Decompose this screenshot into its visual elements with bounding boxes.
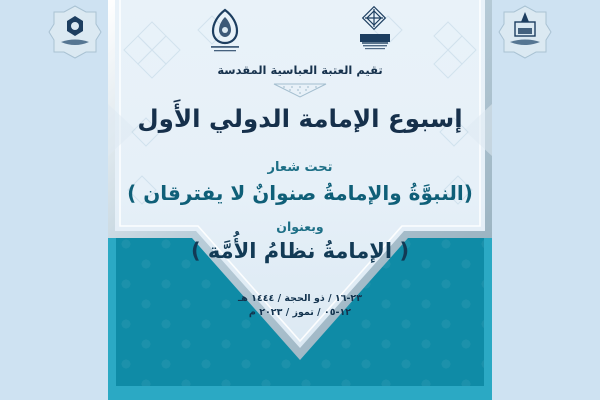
organiser-line: تقيم العتبة العباسية المقدسة (0, 64, 600, 78)
logo-slot-4 (0, 0, 150, 60)
content-stack: تقيم العتبة العباسية المقدسة إسبوع الإما… (0, 0, 600, 400)
logo-slot-2 (300, 0, 450, 54)
slogan-text: (النبوَّةُ والإمامةُ صنوانٌ لا يفترقان ) (0, 180, 600, 206)
logo-center-framed-icon (48, 4, 102, 60)
subtitle-text: ( الإمامةُ نظامُ الأُمَّة ) (0, 238, 600, 265)
logo-slot-1 (450, 0, 600, 60)
event-dates: ٢٣-١٦ / ذو الحجة / ١٤٤٤ هـ ١٢-٠٥ / تموز … (0, 292, 600, 320)
subtitle-label: وبعنوان (0, 219, 600, 234)
date-hijri: ٢٣-١٦ / ذو الحجة / ١٤٤٤ هـ (0, 292, 600, 306)
logo-institute-diamond-icon (352, 4, 398, 54)
logo-row (0, 0, 600, 60)
logo-slot-3 (150, 0, 300, 54)
poster-canvas: تقيم العتبة العباسية المقدسة إسبوع الإما… (0, 0, 600, 400)
page-title: إسبوع الإمامة الدولي الأَول (0, 104, 600, 135)
logo-university-alkafeel-icon (202, 4, 248, 54)
slogan-label: تحت شعار (0, 160, 600, 175)
logo-holy-shrine-framed-icon (498, 4, 552, 60)
date-gregorian: ١٢-٠٥ / تموز / ٢٠٢٣ م (0, 306, 600, 320)
ornament-divider-icon (272, 82, 328, 98)
